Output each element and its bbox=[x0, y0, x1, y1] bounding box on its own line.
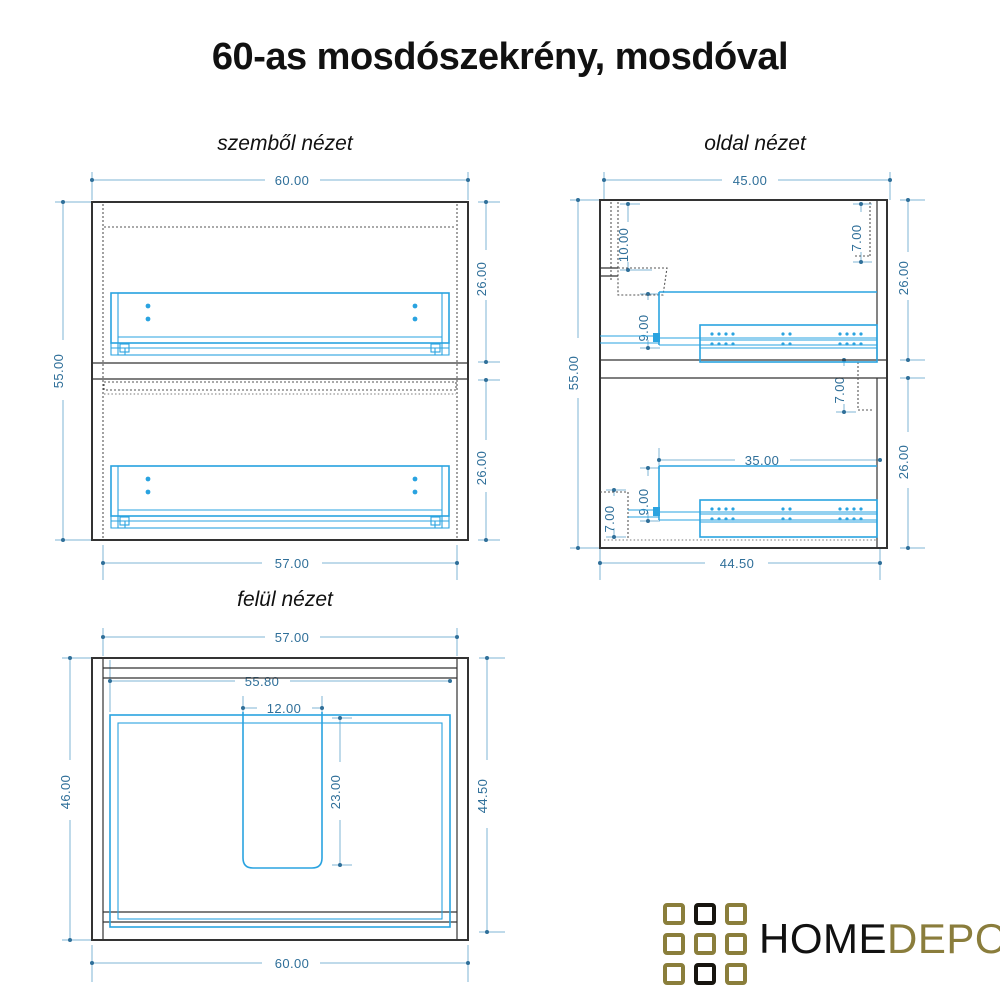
logo-text-depo: DEPO bbox=[887, 915, 1000, 962]
side-dim-7-upper: 7.00 bbox=[849, 202, 872, 264]
side-dim-26-upper: 26.00 bbox=[896, 198, 925, 362]
front-dim-26-lower-label: 26.00 bbox=[474, 451, 489, 486]
logo-square-7 bbox=[663, 963, 685, 985]
front-dim-55-label: 55.00 bbox=[51, 354, 66, 389]
top-dim-12-label: 12.00 bbox=[267, 701, 302, 716]
top-dim-57-label: 57.00 bbox=[275, 630, 310, 645]
drawing-canvas: .out { fill:none; stroke:#333; stroke-wi… bbox=[0, 0, 1000, 1000]
logo-square-8 bbox=[694, 963, 716, 985]
side-dim-7-mid: 7.00 bbox=[832, 358, 856, 414]
side-dim-7-upper-label: 7.00 bbox=[849, 225, 864, 252]
side-dim-26-lower-label: 26.00 bbox=[896, 445, 911, 480]
top-dim-5580-label: 55.80 bbox=[245, 674, 280, 689]
top-dim-23: 23.00 bbox=[328, 716, 352, 867]
side-dim-9-lower-label: 9.00 bbox=[636, 489, 651, 516]
side-dim-55: 55.00 bbox=[566, 198, 600, 550]
logo-square-2 bbox=[694, 903, 716, 925]
front-dim-57-label: 57.00 bbox=[275, 556, 310, 571]
side-dim-9-upper-label: 9.00 bbox=[636, 315, 651, 342]
top-sink-cutout bbox=[243, 712, 322, 868]
front-drawer-upper bbox=[111, 293, 449, 355]
front-drawer-lower bbox=[111, 466, 449, 528]
logo-square-6 bbox=[725, 933, 747, 955]
top-dim-12: 12.00 bbox=[241, 696, 324, 716]
front-view-drawing: 60.00 55.00 26.00 bbox=[51, 172, 500, 580]
side-dim-55-label: 55.00 bbox=[566, 356, 581, 391]
side-dim-10: 10.00 bbox=[616, 202, 652, 272]
side-dim-45: 45.00 bbox=[602, 172, 892, 200]
side-dim-45-label: 45.00 bbox=[733, 173, 768, 188]
front-dim-60-label: 60.00 bbox=[275, 173, 310, 188]
logo-text-home: HOME bbox=[759, 915, 887, 962]
front-dim-60: 60.00 bbox=[90, 172, 470, 200]
front-dim-26-upper: 26.00 bbox=[474, 200, 500, 364]
logo-wordmark: HOMEDEPO bbox=[759, 915, 1000, 963]
top-dim-60-label: 60.00 bbox=[275, 956, 310, 971]
side-dim-4450: 44.50 bbox=[598, 548, 882, 580]
front-dim-26-lower: 26.00 bbox=[474, 378, 500, 542]
side-dim-26-upper-label: 26.00 bbox=[896, 261, 911, 296]
top-dim-57: 57.00 bbox=[101, 628, 459, 656]
top-dim-46: 46.00 bbox=[58, 656, 92, 942]
logo-square-1 bbox=[663, 903, 685, 925]
logo-square-9 bbox=[725, 963, 747, 985]
top-dim-60: 60.00 bbox=[90, 945, 470, 982]
front-dim-57: 57.00 bbox=[101, 545, 459, 580]
side-dim-7-lower-label: 7.00 bbox=[602, 506, 617, 533]
homedepo-logo: HOMEDEPO bbox=[663, 903, 983, 989]
front-dim-26-upper-label: 26.00 bbox=[474, 262, 489, 297]
top-dim-4450: 44.50 bbox=[475, 656, 505, 934]
top-dim-46-label: 46.00 bbox=[58, 775, 73, 810]
side-dim-7-lower: 7.00 bbox=[602, 488, 626, 539]
side-view-drawing: 45.00 55.00 26.00 bbox=[566, 172, 925, 580]
logo-square-4 bbox=[663, 933, 685, 955]
side-dim-10-label: 10.00 bbox=[616, 228, 631, 263]
side-dim-26-lower: 26.00 bbox=[896, 376, 925, 550]
top-dim-23-label: 23.00 bbox=[328, 775, 343, 810]
side-dim-35: 35.00 bbox=[657, 448, 882, 472]
logo-square-5 bbox=[694, 933, 716, 955]
technical-drawing-page: 60-as mosdószekrény, mosdóval szemből né… bbox=[0, 0, 1000, 1000]
side-dim-4450-label: 44.50 bbox=[720, 556, 755, 571]
logo-square-3 bbox=[725, 903, 747, 925]
front-dim-55: 55.00 bbox=[51, 200, 92, 542]
top-view-drawing: 57.00 46.00 44.50 bbox=[58, 628, 505, 982]
side-drawer-lower bbox=[628, 466, 877, 537]
logo-grid-icon bbox=[663, 903, 751, 989]
side-dim-7-mid-label: 7.00 bbox=[832, 377, 847, 404]
top-dim-4450-label: 44.50 bbox=[475, 779, 490, 814]
